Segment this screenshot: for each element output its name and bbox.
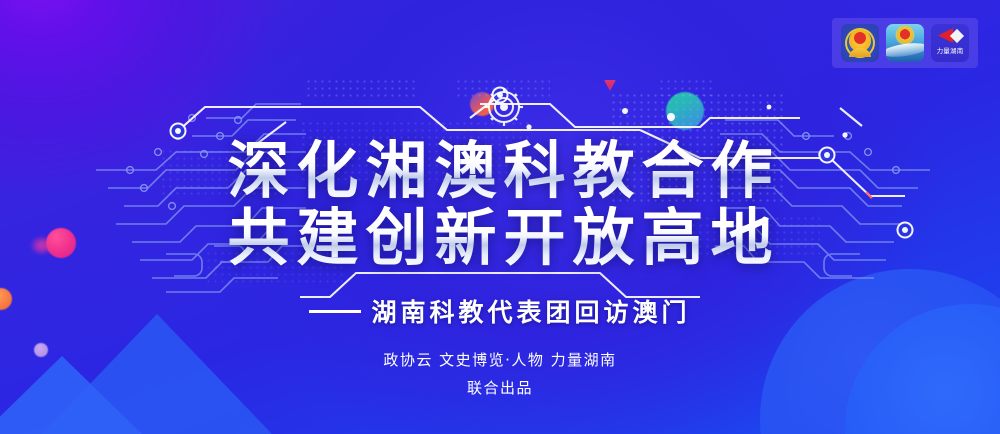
poster-text-block: 深化湘澳科教合作 共建创新开放高地 湖南科教代表团回访澳门 政协云 文史博览·人… [0, 0, 1000, 434]
poster-banner: 力量湖南 深化湘澳科教合作 共建创新开放高地 湖南科教代表团回访澳门 政协云 文… [0, 0, 1000, 434]
poster-credits: 政协云 文史博览·人物 力量湖南 联合出品 [383, 349, 616, 398]
subtitle-dash [309, 310, 361, 313]
credits-line-1: 政协云 文史博览·人物 力量湖南 [383, 349, 616, 370]
poster-subtitle: 湖南科教代表团回访澳门 [309, 293, 690, 329]
credits-line-2: 联合出品 [383, 377, 616, 398]
poster-title-line-1: 深化湘澳科教合作 [220, 139, 779, 202]
poster-title-line-2: 共建创新开放高地 [220, 206, 779, 269]
subtitle-text: 湖南科教代表团回访澳门 [371, 293, 690, 329]
